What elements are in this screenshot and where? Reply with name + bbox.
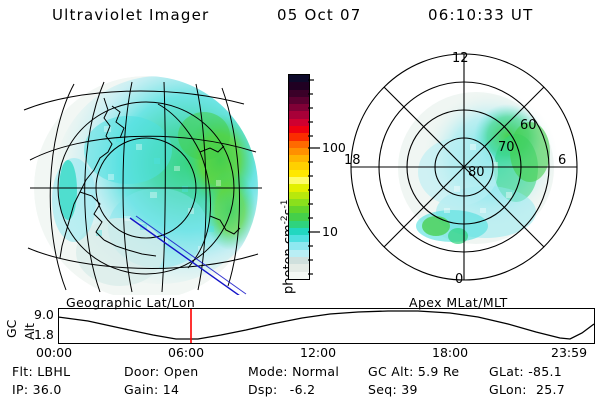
mlat-ring-label-70: 70 [498,140,515,155]
status-dsp: Dsp: -6.2 [248,382,315,397]
colorbar-band [289,170,309,177]
status-glon-key: GLon: [489,382,527,397]
status-door-value: Open [164,364,199,379]
colorbar-band [289,104,309,111]
mlat-rings-and-spokes [351,54,577,280]
colorbar-band [289,264,309,271]
colorbar-band [289,111,309,118]
orbit-xtick-0000: 00:00 [36,345,72,360]
colorbar-band [289,75,309,82]
status-seq: Seq: 39 [368,382,418,397]
status-flt-key: Flt: [12,364,33,379]
orbit-xtick-1200: 12:00 [300,345,336,360]
status-bar: Flt: LBHL Door: Open Mode: Normal GC Alt… [0,364,600,400]
colorbar-band [289,126,309,133]
colorbar-ticks [308,74,322,280]
status-mode: Mode: Normal [248,364,339,379]
colorbar-gradient [288,74,310,280]
status-mode-value: Normal [292,364,339,379]
status-gcalt: GC Alt: 5.9 Re [368,364,459,379]
status-flt: Flt: LBHL [12,364,70,379]
status-gain-value: 14 [163,382,180,397]
auroral-emission-region [34,76,266,295]
colorbar-band [289,206,309,213]
status-ip-key: IP: [12,382,28,397]
status-flt-value: LBHL [37,364,70,379]
status-dsp-value: -6.2 [290,382,316,397]
orbit-altitude-plot [58,308,595,344]
status-gain-key: Gain: [124,382,158,397]
status-glon-value: 25.7 [536,382,565,397]
orbit-ytick-low: 1.8 [34,327,54,342]
orbit-xtick-0600: 06:00 [168,345,204,360]
mlat-mlt-panel[interactable]: 12 6 0 18 60 70 80 [340,40,598,295]
status-glat-key: GLat: [489,364,524,379]
status-seq-key: Seq: [368,382,397,397]
status-dsp-key: Dsp: [248,382,277,397]
orbit-ytick-high: 9.0 [34,307,54,322]
colorbar-band [289,221,309,228]
colorbar-band [289,213,309,220]
mlat-ring-label-60: 60 [520,118,537,133]
status-door: Door: Open [124,364,198,379]
status-door-key: Door: [124,364,160,379]
mlat-ring-label-80: 80 [468,165,485,180]
colorbar-band [289,272,309,279]
colorbar-band [289,184,309,191]
uv-imager-display: Ultraviolet Imager 05 Oct 07 06:10:33 UT [0,0,600,400]
mlat-mlt-dial-plot: 12 6 0 18 60 70 80 [340,40,598,295]
colorbar-band [289,257,309,264]
colorbar-band [289,199,309,206]
colorbar-band [289,148,309,155]
colorbar-band [289,90,309,97]
colorbar-band [289,235,309,242]
colorbar-band [289,133,309,140]
orbit-altitude-strip[interactable]: GC Alt 9.0 1.8 00:00 06:00 12:00 18:00 2… [0,306,600,358]
status-glat-value: -85.1 [528,364,562,379]
status-ip-value: 36.0 [33,382,62,397]
status-glon: GLon: 25.7 [489,382,565,397]
status-glat: GLat: -85.1 [489,364,562,379]
status-ip: IP: 36.0 [12,382,62,397]
colorbar-band [289,192,309,199]
geographic-polar-plot [8,40,270,295]
colorbar-band [289,97,309,104]
colorbar-tick-label-10: 10 [322,224,338,239]
colorbar-band [289,155,309,162]
orbit-xtick-1800: 18:00 [432,345,468,360]
observation-time: 06:10:33 UT [428,6,533,24]
observation-date: 05 Oct 07 [277,6,361,24]
status-seq-value: 39 [401,382,418,397]
colorbar-band [289,250,309,257]
colorbar-band [289,228,309,235]
colorbar-band [289,242,309,249]
mlt-label-0: 0 [455,272,463,287]
colorbar-band [289,177,309,184]
colorbar-band [289,141,309,148]
mlt-label-12: 12 [452,51,469,66]
orbit-xtick-2359: 23:59 [551,345,587,360]
status-gcalt-value: 5.9 Re [418,364,459,379]
instrument-title: Ultraviolet Imager [52,6,209,24]
geographic-image-panel[interactable] [8,40,270,295]
orbit-y-axis-label-gc: GC [4,320,19,338]
status-gain: Gain: 14 [124,382,179,397]
colorbar-band [289,162,309,169]
status-mode-key: Mode: [248,364,288,379]
gc-altitude-curve [58,311,594,339]
mlt-label-18: 18 [344,153,361,168]
colorbar-band [289,82,309,89]
mlt-label-6: 6 [558,153,566,168]
status-gcalt-key: GC Alt: [368,364,414,379]
colorbar-band [289,119,309,126]
